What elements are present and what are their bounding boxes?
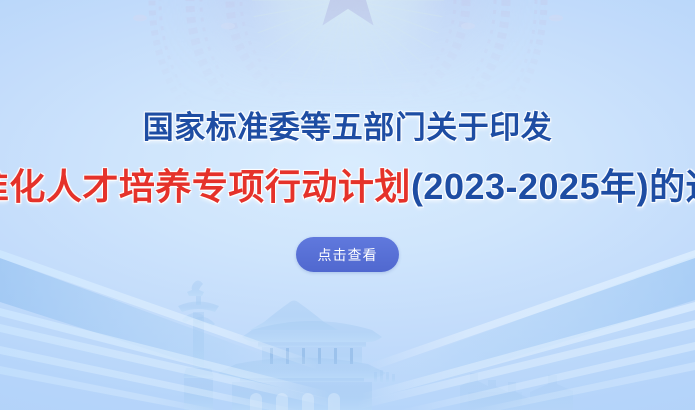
notice-banner: 国家标准委等五部门关于印发 标准化人才培养专项行动计划(2023-2025年)的… (0, 0, 695, 410)
banner-content: 国家标准委等五部门关于印发 标准化人才培养专项行动计划(2023-2025年)的… (0, 0, 695, 410)
page-title-line-1: 国家标准委等五部门关于印发 (143, 112, 553, 143)
page-title-line-2: 标准化人才培养专项行动计划(2023-2025年)的通知 (0, 169, 695, 205)
page-title-plan-name: 标准化人才培养专项行动计划 (0, 166, 411, 207)
page-title-period-suffix: (2023-2025年)的通知 (411, 166, 695, 207)
view-notice-button[interactable]: 点击查看 (296, 237, 399, 272)
